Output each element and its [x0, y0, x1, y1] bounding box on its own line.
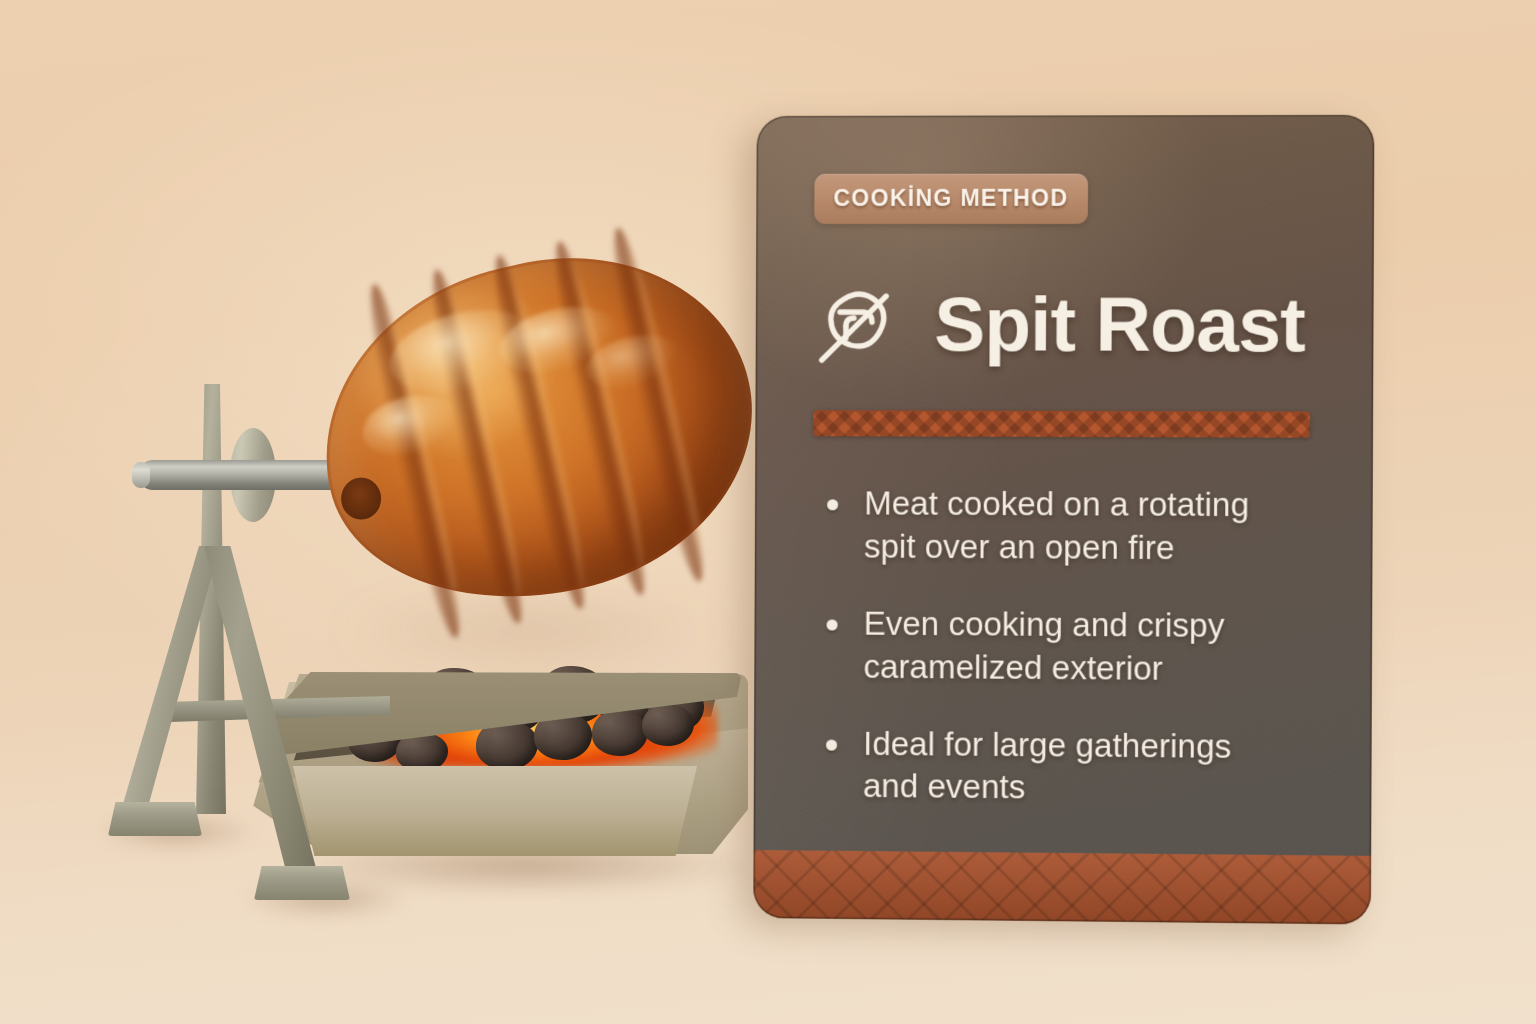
bullet-dot — [827, 619, 838, 630]
charcoal-briquette — [642, 704, 694, 746]
card-content: COOKİNG METHOD Spit Roast — [753, 115, 1374, 925]
page-title: Spit Roast — [934, 287, 1305, 364]
charcoal-briquette — [592, 710, 648, 756]
stand-foot-right — [254, 866, 350, 900]
bullet-dot — [826, 739, 837, 750]
skewered-meat-icon — [814, 282, 901, 368]
roast-meat — [290, 220, 785, 639]
spit-rod-tip — [132, 462, 150, 488]
category-badge-label: COOKİNG METHOD — [833, 185, 1068, 211]
card-bottom-pattern-band — [753, 850, 1371, 925]
poster-canvas: COOKİNG METHOD Spit Roast — [0, 0, 1536, 1024]
list-item-text: Meat cooked on a rotating spit over an o… — [864, 482, 1297, 570]
stand-foot-left — [108, 802, 202, 836]
list-item: Even cooking and crispy caramelized exte… — [812, 602, 1317, 691]
category-badge: COOKİNG METHOD — [814, 174, 1087, 224]
list-item-text: Even cooking and crispy caramelized exte… — [863, 602, 1296, 691]
bullet-dot — [827, 499, 838, 510]
feature-list: Meat cooked on a rotating spit over an o… — [812, 482, 1318, 812]
spit-roast-scene — [0, 0, 790, 1024]
card-title-row: Spit Roast — [814, 282, 1319, 369]
list-item: Meat cooked on a rotating spit over an o… — [813, 482, 1318, 570]
roast-spit-hole — [341, 478, 381, 520]
list-item: Ideal for large gatherings and events — [812, 722, 1317, 812]
roast-outline — [290, 220, 785, 639]
decorative-divider — [813, 410, 1310, 438]
cooking-method-card: COOKİNG METHOD Spit Roast — [753, 115, 1374, 925]
list-item-text: Ideal for large gatherings and events — [863, 722, 1296, 812]
